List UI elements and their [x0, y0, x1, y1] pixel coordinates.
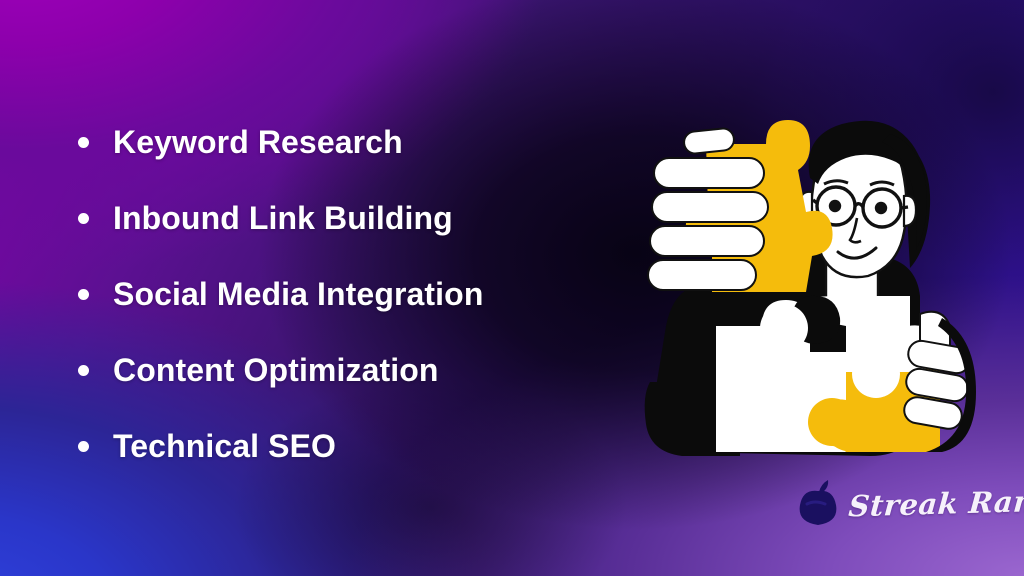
list-item: Social Media Integration: [78, 256, 678, 332]
list-item: Technical SEO: [78, 408, 678, 484]
bullet-dot-icon: [78, 365, 89, 376]
bullet-label: Content Optimization: [113, 352, 439, 389]
bullet-label: Inbound Link Building: [113, 200, 453, 237]
bullet-label: Technical SEO: [113, 428, 336, 465]
finger-1: [654, 158, 764, 188]
puzzle-knob-white: [760, 304, 808, 352]
bullet-dot-icon: [78, 441, 89, 452]
thumb: [683, 127, 735, 154]
finger-4: [648, 260, 756, 290]
list-item: Inbound Link Building: [78, 180, 678, 256]
person-holding-puzzle-illustration: [620, 100, 980, 470]
eye-right: [875, 202, 887, 214]
brand-name: Streak Ranker: [847, 483, 1024, 524]
puzzle-knob-white-2: [852, 350, 900, 398]
finger-3: [650, 226, 764, 256]
list-item: Content Optimization: [78, 332, 678, 408]
list-item: Keyword Research: [78, 104, 678, 180]
slide-canvas: Keyword Research Inbound Link Building S…: [0, 0, 1024, 576]
brand-logo: Streak Ranker: [795, 478, 1024, 528]
bullet-label: Social Media Integration: [113, 276, 483, 313]
finger-2: [652, 192, 768, 222]
bullet-dot-icon: [78, 213, 89, 224]
bullet-label: Keyword Research: [113, 124, 403, 161]
seo-services-bullet-list: Keyword Research Inbound Link Building S…: [78, 104, 678, 484]
bullet-dot-icon: [78, 137, 89, 148]
berry-icon: [795, 478, 841, 528]
bullet-dot-icon: [78, 289, 89, 300]
puzzle-knob-yellow: [808, 398, 856, 446]
eye-left: [829, 200, 841, 212]
